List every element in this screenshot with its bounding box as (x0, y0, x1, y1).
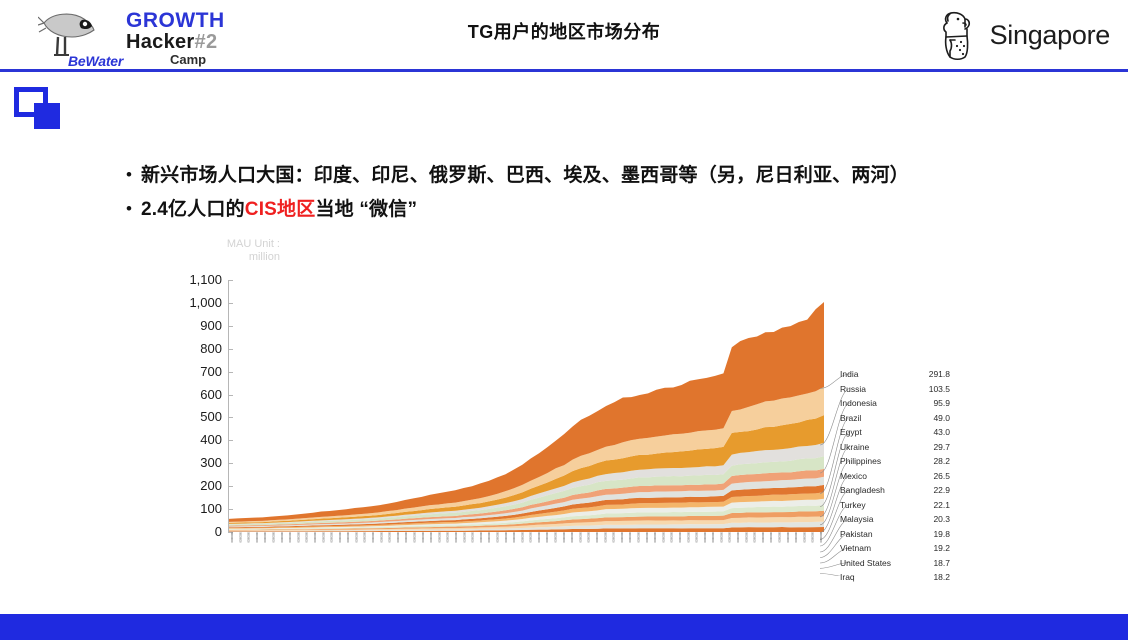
legend-item-label: Russia (840, 384, 866, 394)
x-axis-tick-label: 00000000 (793, 532, 798, 562)
chart-container: MAU Unit : million 010020030040050060070… (160, 236, 950, 566)
legend-item-label: Philippines (840, 456, 881, 466)
legend-item-label: Malaysia (840, 514, 874, 524)
legend-item-value: 103.5 (929, 384, 950, 394)
x-axis-tick-label: 00000000 (586, 532, 591, 562)
x-axis-tick-label: 00000000 (312, 532, 317, 562)
singapore-logo: Singapore (934, 8, 1110, 63)
legend-item: Iraq18.2 (832, 571, 950, 586)
x-axis-tick-label: 00000000 (262, 532, 267, 562)
y-axis-labels: 01002003004005006007008009001,0001,100 (160, 280, 228, 532)
legend-item-value: 20.3 (933, 514, 950, 524)
x-axis-tick-label: 00000000 (594, 532, 599, 562)
legend-item-value: 22.9 (933, 485, 950, 495)
slide-root: GROWTH Hacker#2 Camp BeWater TG用户的地区市场分布 (0, 0, 1128, 640)
legend-item-label: Turkey (840, 500, 866, 510)
x-axis-tick-label: 00000000 (378, 532, 383, 562)
legend-item-value: 28.2 (933, 456, 950, 466)
y-axis-tick-label: 600 (200, 387, 222, 402)
legend-item-value: 291.8 (929, 369, 950, 379)
x-axis-tick-label: 00000000 (752, 532, 757, 562)
x-axis-tick-label: 00000000 (801, 532, 806, 562)
x-axis-tick-label: 00000000 (785, 532, 790, 562)
x-axis-tick-label: 00000000 (702, 532, 707, 562)
y-axis-tick-label: 400 (200, 432, 222, 447)
logo-bewater-text: BeWater (68, 53, 123, 69)
legend-item-value: 29.7 (933, 442, 950, 452)
y-axis-tick-label: 800 (200, 341, 222, 356)
x-axis-tick-label: 00000000 (710, 532, 715, 562)
y-axis-tick-label: 1,100 (189, 272, 222, 287)
x-axis-tick-label: 00000000 (768, 532, 773, 562)
x-axis-tick-label: 00000000 (246, 532, 251, 562)
x-axis-tick-label: 00000000 (470, 532, 475, 562)
area-chart-svg (229, 280, 824, 532)
x-axis-tick-label: 00000000 (652, 532, 657, 562)
legend-item: United States18.7 (832, 557, 950, 572)
bullet-list: • 新兴市场人口大国：印度、印尼、俄罗斯、巴西、埃及、墨西哥等（另，尼日利亚、两… (126, 163, 1046, 231)
legend-item-label: Brazil (840, 413, 861, 423)
legend-item: Bangladesh22.9 (832, 484, 950, 499)
legend-item-value: 26.5 (933, 471, 950, 481)
x-axis-tick-label: 00000000 (561, 532, 566, 562)
x-axis-tick-label: 00000000 (486, 532, 491, 562)
bullet-text-2-highlight: CIS地区 (245, 199, 316, 220)
chart-unit-note-line1: MAU Unit : (170, 238, 280, 251)
x-axis-tick-label: 00000000 (718, 532, 723, 562)
x-axis-tick-label: 00000000 (627, 532, 632, 562)
x-axis-tick-label: 00000000 (644, 532, 649, 562)
legend-item: Vietnam19.2 (832, 542, 950, 557)
x-axis-tick-label: 00000000 (428, 532, 433, 562)
legend-item-label: Pakistan (840, 529, 873, 539)
chart-unit-note-line2: million (170, 251, 280, 264)
legend-item-value: 43.0 (933, 427, 950, 437)
x-axis-tick-label: 00000000 (694, 532, 699, 562)
legend-item: Mexico26.5 (832, 470, 950, 485)
bullet-text-2-pre: 2.4亿人口的 (141, 199, 245, 220)
x-axis-tick-label: 00000000 (295, 532, 300, 562)
x-axis-tick-label: 00000000 (660, 532, 665, 562)
x-axis-tick-label: 00000000 (353, 532, 358, 562)
x-axis-tick-label: 00000000 (735, 532, 740, 562)
legend-item: Brazil49.0 (832, 412, 950, 427)
x-axis-tick-label: 00000000 (478, 532, 483, 562)
x-axis-tick-label: 00000000 (503, 532, 508, 562)
x-axis-labels: 0000000000000000000000000000000000000000… (229, 532, 824, 562)
chart-legend: India291.8Russia103.5Indonesia95.9Brazil… (832, 368, 950, 586)
x-axis-tick-label: 00000000 (611, 532, 616, 562)
x-axis-tick-label: 00000000 (810, 532, 815, 562)
y-axis-tick-label: 500 (200, 409, 222, 424)
legend-item: Turkey22.1 (832, 499, 950, 514)
stacked-area-plot (229, 280, 824, 532)
slide-header: GROWTH Hacker#2 Camp BeWater TG用户的地区市场分布 (0, 0, 1128, 70)
x-axis-tick-label: 00000000 (619, 532, 624, 562)
y-axis-tick-label: 1,000 (189, 295, 222, 310)
blue-squares-decoration (14, 87, 60, 129)
x-axis-tick-label: 00000000 (420, 532, 425, 562)
logo-camp-text: Camp (170, 52, 206, 67)
x-axis-tick-label: 00000000 (412, 532, 417, 562)
x-axis-tick-label: 00000000 (602, 532, 607, 562)
legend-item-label: Mexico (840, 471, 867, 481)
legend-item-label: Bangladesh (840, 485, 885, 495)
x-axis-tick-label: 00000000 (577, 532, 582, 562)
y-axis-tick-label: 200 (200, 478, 222, 493)
x-axis-tick-label: 00000000 (254, 532, 259, 562)
x-axis-tick-label: 00000000 (553, 532, 558, 562)
bottom-blue-bar (0, 614, 1128, 640)
x-axis-tick-label: 00000000 (777, 532, 782, 562)
x-axis-tick-label: 00000000 (237, 532, 242, 562)
legend-item: Indonesia95.9 (832, 397, 950, 412)
x-axis-tick-label: 00000000 (519, 532, 524, 562)
header-divider (0, 69, 1128, 72)
x-axis-tick-label: 00000000 (370, 532, 375, 562)
legend-item-label: Egypt (840, 427, 862, 437)
list-item: • 2.4亿人口的CIS地区当地 “微信” (126, 197, 1046, 222)
legend-item-value: 19.2 (933, 543, 950, 553)
legend-item: Ukraine29.7 (832, 441, 950, 456)
bullet-text-2-post: 当地 “微信” (315, 199, 417, 220)
legend-item: Egypt43.0 (832, 426, 950, 441)
x-axis-tick-label: 00000000 (635, 532, 640, 562)
singapore-label: Singapore (990, 20, 1110, 51)
legend-item: India291.8 (832, 368, 950, 383)
legend-item: Philippines28.2 (832, 455, 950, 470)
legend-item: Russia103.5 (832, 383, 950, 398)
legend-item-value: 49.0 (933, 413, 950, 423)
x-axis-tick-label: 00000000 (536, 532, 541, 562)
x-axis-tick-label: 00000000 (403, 532, 408, 562)
bullet-text-1: 新兴市场人口大国：印度、印尼、俄罗斯、巴西、埃及、墨西哥等（另，尼日利亚、两河） (141, 163, 909, 188)
bullet-text-2: 2.4亿人口的CIS地区当地 “微信” (141, 197, 417, 222)
x-axis-tick-label: 00000000 (511, 532, 516, 562)
x-axis-tick-label: 00000000 (677, 532, 682, 562)
legend-item-label: Ukraine (840, 442, 869, 452)
bullet-marker-icon: • (126, 163, 132, 187)
x-axis-tick-label: 00000000 (461, 532, 466, 562)
x-axis-tick-label: 00000000 (494, 532, 499, 562)
legend-item-label: Indonesia (840, 398, 877, 408)
legend-item: Pakistan19.8 (832, 528, 950, 543)
x-axis-tick-label: 00000000 (395, 532, 400, 562)
merlion-icon (934, 10, 978, 62)
x-axis-tick-label: 00000000 (229, 532, 234, 562)
x-axis-tick-label: 00000000 (743, 532, 748, 562)
x-axis-tick-label: 00000000 (669, 532, 674, 562)
plot-area-wrapper: 01002003004005006007008009001,0001,100 0… (160, 280, 950, 570)
legend-item-label: Iraq (840, 572, 855, 582)
y-axis-tick-label: 900 (200, 318, 222, 333)
y-axis-tick-label: 100 (200, 501, 222, 516)
x-axis-tick-label: 00000000 (362, 532, 367, 562)
legend-item-label: United States (840, 558, 891, 568)
y-axis-tick-label: 300 (200, 455, 222, 470)
x-axis-tick-label: 00000000 (569, 532, 574, 562)
list-item: • 新兴市场人口大国：印度、印尼、俄罗斯、巴西、埃及、墨西哥等（另，尼日利亚、两… (126, 163, 1046, 188)
x-axis-tick-label: 00000000 (279, 532, 284, 562)
x-axis-tick-label: 00000000 (287, 532, 292, 562)
legend-item-value: 19.8 (933, 529, 950, 539)
x-axis-tick-label: 00000000 (270, 532, 275, 562)
x-axis-tick-label: 00000000 (727, 532, 732, 562)
x-axis-tick-label: 00000000 (329, 532, 334, 562)
x-axis-tick-label: 00000000 (304, 532, 309, 562)
y-axis-tick-label: 700 (200, 364, 222, 379)
x-axis-tick-label: 00000000 (337, 532, 342, 562)
legend-item-value: 18.2 (933, 572, 950, 582)
x-axis-tick-label: 00000000 (445, 532, 450, 562)
y-axis-tick-label: 0 (215, 524, 222, 539)
x-axis-tick-label: 00000000 (685, 532, 690, 562)
chart-unit-note: MAU Unit : million (170, 238, 280, 264)
x-axis-tick-label: 00000000 (453, 532, 458, 562)
bullet-marker-icon: • (126, 197, 132, 221)
legend-item-value: 22.1 (933, 500, 950, 510)
x-axis-tick-label: 00000000 (544, 532, 549, 562)
legend-item-label: India (840, 369, 858, 379)
x-axis-tick-label: 00000000 (345, 532, 350, 562)
legend-item: Malaysia20.3 (832, 513, 950, 528)
x-axis-tick-label: 00000000 (760, 532, 765, 562)
x-axis-tick-label: 00000000 (387, 532, 392, 562)
legend-item-value: 18.7 (933, 558, 950, 568)
legend-item-value: 95.9 (933, 398, 950, 408)
legend-item-label: Vietnam (840, 543, 871, 553)
deco-square-filled (34, 103, 60, 129)
x-axis-tick-label: 00000000 (436, 532, 441, 562)
x-axis-tick-label: 00000000 (528, 532, 533, 562)
x-axis-tick-label: 00000000 (320, 532, 325, 562)
